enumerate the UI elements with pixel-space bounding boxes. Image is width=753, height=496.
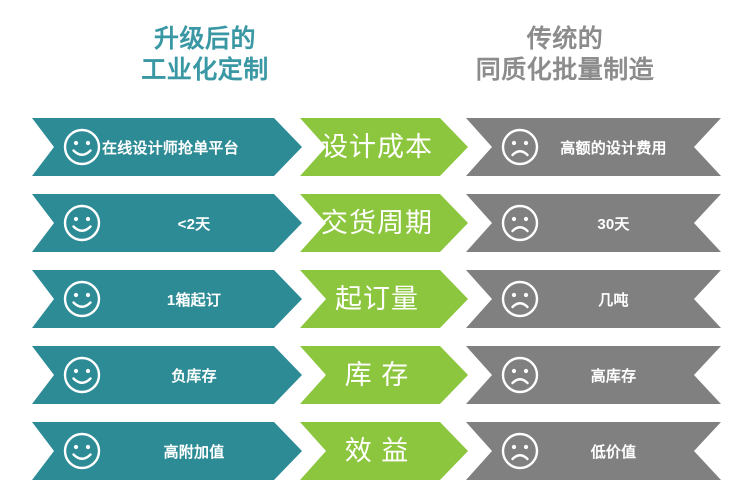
sad-face-icon [500,355,540,395]
sad-face-icon [500,431,540,471]
header-upgraded-line2: 工业化定制 [40,55,370,86]
row-center-label: 交货周期 [321,208,447,238]
comparison-row: <2天 交货周期 30天 [0,194,753,252]
row-left-label: <2天 [102,213,302,234]
comparison-row: 在线设计师抢单平台 设计成本 高额的设计费用 [0,118,753,176]
smiley-face-icon [62,203,102,243]
sad-face-icon [500,127,540,167]
row-center-label: 设计成本 [321,132,447,162]
comparison-row: 1箱起订 起订量 几吨 [0,270,753,328]
smiley-face-icon [62,431,102,471]
smiley-face-icon [62,279,102,319]
row-center-label-shape: 交货周期 [300,194,468,252]
row-left-banner: 负库存 [32,346,302,404]
sad-face-icon [500,203,540,243]
row-center-label: 起订量 [335,284,433,314]
comparison-row: 高附加值 效 益 低价值 [0,422,753,480]
header-traditional-line1: 传统的 [400,24,730,55]
smiley-face-icon [62,355,102,395]
row-center-label-shape: 起订量 [300,270,468,328]
row-right-banner: 高额的设计费用 [466,118,721,176]
header-upgraded-line1: 升级后的 [40,24,370,55]
row-right-banner: 高库存 [466,346,721,404]
row-center-label: 效 益 [345,436,424,466]
row-left-banner: <2天 [32,194,302,252]
comparison-row: 负库存 库 存 高库存 [0,346,753,404]
row-right-label: 几吨 [540,289,721,310]
row-right-label: 30天 [540,213,721,234]
row-left-label: 在线设计师抢单平台 [102,137,302,158]
row-right-label: 低价值 [540,441,721,462]
comparison-rows: 在线设计师抢单平台 设计成本 高额的设计费用 <2天 交货周期 30天 [0,112,753,496]
row-center-label-shape: 设计成本 [300,118,468,176]
header-upgraded: 升级后的 工业化定制 [40,24,370,86]
row-center-label-shape: 效 益 [300,422,468,480]
row-left-banner: 在线设计师抢单平台 [32,118,302,176]
row-right-banner: 30天 [466,194,721,252]
sad-face-icon [500,279,540,319]
row-left-label: 高附加值 [102,441,302,462]
row-left-banner: 1箱起订 [32,270,302,328]
row-right-label: 高库存 [540,365,721,386]
row-left-banner: 高附加值 [32,422,302,480]
row-right-banner: 几吨 [466,270,721,328]
header-traditional: 传统的 同质化批量制造 [400,24,730,86]
row-right-banner: 低价值 [466,422,721,480]
row-center-label-shape: 库 存 [300,346,468,404]
row-left-label: 负库存 [102,365,302,386]
headers-region: 升级后的 工业化定制 传统的 同质化批量制造 [0,0,753,112]
row-left-label: 1箱起订 [102,289,302,310]
smiley-face-icon [62,127,102,167]
row-right-label: 高额的设计费用 [540,137,721,158]
header-traditional-line2: 同质化批量制造 [400,55,730,86]
row-center-label: 库 存 [345,360,424,390]
